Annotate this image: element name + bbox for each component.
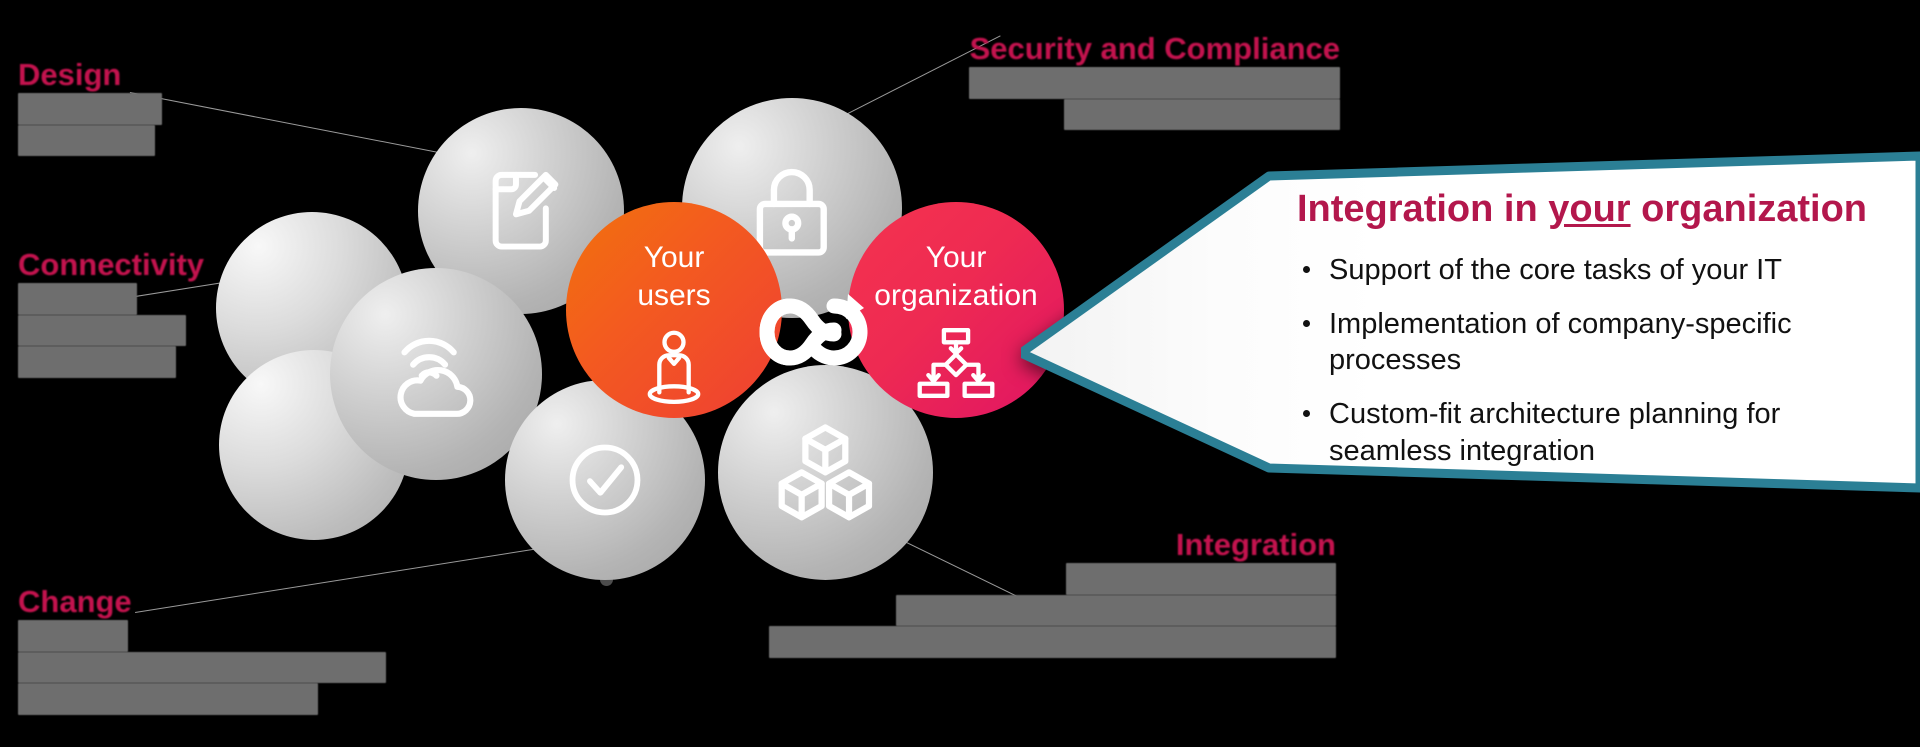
callout-title: Integration in your organization — [1297, 188, 1878, 232]
annotation-security-and-compliance: Security and Compliance Data protection … — [620, 32, 1340, 130]
annotation-security-title: Security and Compliance — [620, 32, 1340, 67]
annotation-design-line-1: Conception — [18, 125, 162, 157]
annotation-connectivity-title: Connectivity — [18, 248, 204, 283]
annotation-integration-line-2: Industry-specific standards (e.g. Truste… — [520, 626, 1336, 658]
infographic-slide: Your users Your organization — [0, 0, 1920, 747]
infinity-loop-icon — [748, 284, 880, 380]
annotation-connectivity-line-2: management — [18, 346, 204, 378]
annotation-design-title: Design — [18, 58, 162, 93]
check-circle-icon — [547, 422, 663, 538]
annotation-change-line-2: Continuous improvement — [18, 683, 386, 715]
annotation-integration-line-0: Interface management — [520, 563, 1336, 595]
cloud-wifi-icon — [375, 313, 498, 436]
bubble-your-organization-line1: Your — [926, 241, 987, 274]
callout-title-emphasis: your — [1548, 188, 1630, 230]
annotation-change-title: Change — [18, 585, 386, 620]
callout-title-suffix: organization — [1631, 188, 1867, 230]
annotation-connectivity: Connectivity Interfaces Requirements man… — [18, 248, 204, 378]
annotation-integration-line-1: Integration in your system landscape — [520, 595, 1336, 627]
callout-content: Integration in your organization Support… — [1265, 160, 1912, 482]
callout-panel: Integration in your organization Support… — [1021, 148, 1920, 496]
annotation-design-line-0: Architecture — [18, 93, 162, 125]
callout-bullet-list: Support of the core tasks of your IT Imp… — [1297, 252, 1878, 470]
callout-bullet-1: Implementation of company-specific proce… — [1297, 306, 1878, 380]
annotation-change-line-0: Trainings — [18, 620, 386, 652]
annotation-integration: Integration Interface management Integra… — [520, 528, 1336, 658]
annotation-change-line-1: Software change management — [18, 652, 386, 684]
cubes-icon — [763, 410, 888, 535]
annotation-connectivity-line-1: Requirements — [18, 315, 204, 347]
annotation-design: Design Architecture Conception — [18, 58, 162, 156]
flowchart-icon — [913, 325, 999, 411]
annotation-security-line-0: Data protection / Cybersecurity — [620, 67, 1340, 99]
person-icon — [631, 325, 717, 411]
bubble-your-organization-line2: organization — [874, 279, 1037, 312]
callout-bullet-2: Custom-fit architecture planning for sea… — [1297, 396, 1878, 470]
bubble-your-users-line1: Your — [644, 241, 705, 274]
bubble-your-users-line2: users — [637, 279, 710, 312]
callout-bullet-0: Support of the core tasks of your IT — [1297, 252, 1878, 289]
annotation-integration-title: Integration — [520, 528, 1336, 563]
callout-title-prefix: Integration in — [1297, 188, 1548, 230]
annotation-change: Change Trainings Software change managem… — [18, 585, 386, 715]
annotation-connectivity-line-0: Interfaces — [18, 283, 204, 315]
document-edit-icon — [461, 151, 580, 270]
annotation-security-line-1: Best practice approach — [620, 99, 1340, 131]
